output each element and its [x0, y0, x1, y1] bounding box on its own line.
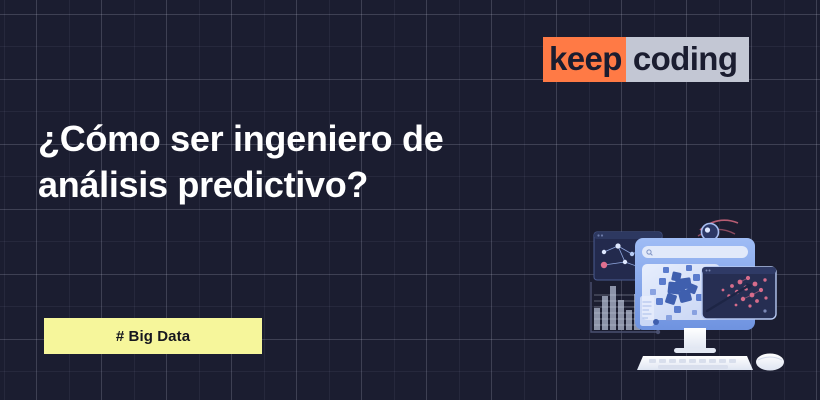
mouse	[756, 354, 784, 371]
screen-search-bar	[642, 246, 748, 258]
promo-card: keep coding ¿Cómo ser ingeniero de análi…	[0, 0, 820, 400]
monitor-stand	[674, 328, 716, 353]
scatter-plot-panel	[702, 267, 776, 319]
category-tag-label: # Big Data	[116, 328, 190, 345]
category-tag-big-data[interactable]: # Big Data	[44, 318, 262, 354]
logo-coding-text: coding	[626, 37, 750, 82]
keyboard	[637, 356, 753, 370]
illustration-svg	[580, 210, 800, 375]
logo-keep-text: keep	[543, 37, 626, 82]
keepcoding-logo[interactable]: keep coding	[543, 37, 749, 82]
data-analytics-illustration	[580, 210, 800, 375]
page-title: ¿Cómo ser ingeniero de análisis predicti…	[38, 116, 578, 208]
